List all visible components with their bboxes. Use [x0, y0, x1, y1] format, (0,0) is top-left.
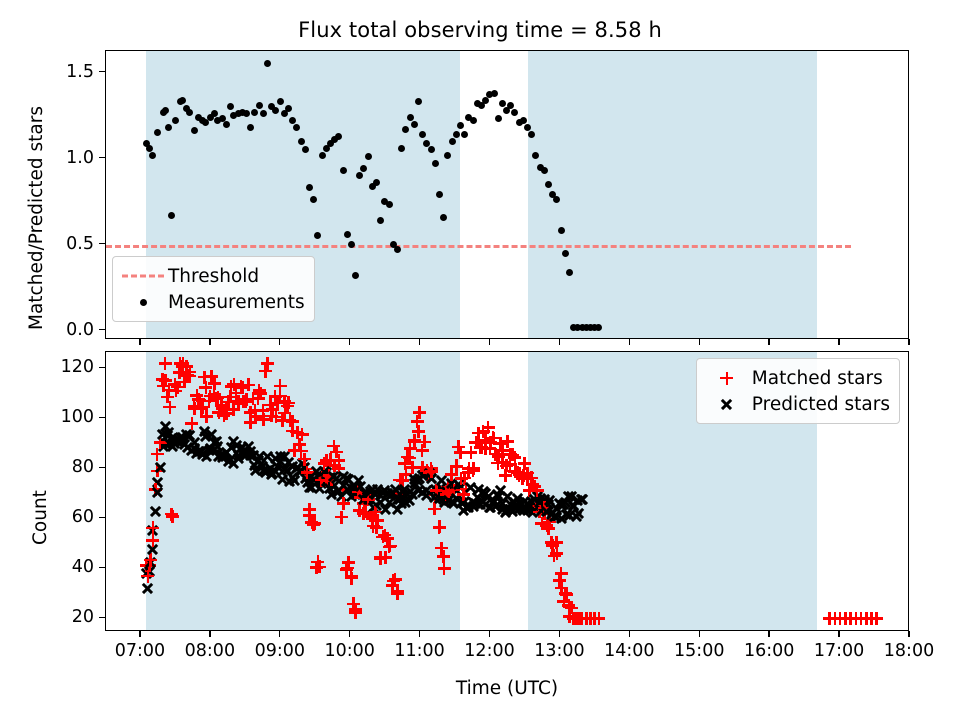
measurement-point — [407, 114, 414, 121]
measurement-point — [168, 212, 175, 219]
xtick-mark — [699, 339, 700, 345]
xtick-mark — [209, 339, 210, 345]
ytick-mark — [99, 243, 105, 244]
measurement-point — [457, 122, 464, 129]
legend-row-matched: Matched stars — [704, 365, 890, 391]
predicted-ex-icon — [704, 393, 750, 415]
xtick-mark — [908, 339, 909, 345]
measurement-point — [348, 241, 355, 248]
measurement-point — [319, 152, 326, 159]
xtick-label: 07:00 — [115, 641, 165, 661]
ytick-mark — [99, 71, 105, 72]
measurement-point — [495, 115, 502, 122]
measurement-point — [256, 102, 263, 109]
ytick-mark — [99, 617, 105, 618]
xtick-mark — [209, 631, 210, 637]
measurement-point — [154, 129, 161, 136]
xtick-mark — [699, 631, 700, 637]
ytick-label: 0.5 — [0, 234, 94, 254]
measurement-point — [335, 133, 342, 140]
xtick-mark — [419, 631, 420, 637]
ytick-mark — [99, 367, 105, 368]
measurement-point — [541, 167, 548, 174]
xtick-mark — [768, 631, 769, 637]
measurement-point — [545, 181, 552, 188]
ytick-mark — [99, 157, 105, 158]
ytick-mark — [99, 517, 105, 518]
measurement-point — [491, 90, 498, 97]
measurement-point — [186, 109, 193, 116]
xtick-mark — [139, 339, 140, 345]
xtick-label: 15:00 — [674, 641, 724, 661]
measurement-point — [179, 97, 186, 104]
bottom-panel-legend: Matched stars Predicted stars — [696, 358, 900, 424]
measurement-point — [453, 131, 460, 138]
measurement-point — [511, 109, 518, 116]
top-panel-axes: Threshold Measurements — [105, 50, 909, 339]
xtick-mark — [489, 631, 490, 637]
matched-plus-icon — [704, 367, 750, 389]
measurement-point — [344, 231, 351, 238]
ytick-label: 0.0 — [0, 320, 94, 340]
ytick-label: 1.5 — [0, 62, 94, 82]
measurement-point — [444, 152, 451, 159]
ytick-mark — [99, 329, 105, 330]
ytick-mark — [99, 567, 105, 568]
ytick-mark — [99, 467, 105, 468]
legend-label-predicted: Predicted stars — [750, 394, 890, 415]
xtick-mark — [419, 339, 420, 345]
measurement-point — [146, 145, 153, 152]
legend-row-measurements: Measurements — [120, 289, 305, 315]
ytick-label: 40 — [0, 557, 94, 577]
xtick-mark — [349, 631, 350, 637]
measurement-point — [558, 227, 565, 234]
measurement-point — [162, 107, 169, 114]
xtick-mark — [279, 339, 280, 345]
xtick-mark — [559, 631, 560, 637]
xtick-mark — [629, 631, 630, 637]
measurement-point — [507, 102, 514, 109]
ytick-label: 100 — [0, 407, 94, 427]
measurement-point — [223, 121, 230, 128]
legend-label-matched: Matched stars — [750, 368, 883, 389]
xtick-label: 12:00 — [464, 641, 514, 661]
legend-row-threshold: Threshold — [120, 263, 305, 289]
xtick-mark — [349, 339, 350, 345]
xtick-label: 09:00 — [255, 641, 305, 661]
top-panel-ylabel: Matched/Predicted stars — [26, 106, 47, 330]
xtick-label: 08:00 — [185, 641, 235, 661]
ytick-mark — [99, 417, 105, 418]
measurement-point — [440, 214, 447, 221]
xtick-mark — [768, 339, 769, 345]
legend-row-predicted: Predicted stars — [704, 391, 890, 417]
measurement-point — [566, 269, 573, 276]
measurement-point — [428, 146, 435, 153]
threshold-line — [106, 245, 851, 248]
xtick-mark — [559, 339, 560, 345]
measurement-point — [595, 324, 602, 331]
measurement-point — [298, 138, 305, 145]
ytick-label: 1.0 — [0, 148, 94, 168]
measurement-point — [352, 272, 359, 279]
bottom-panel-axes: Matched stars Predicted stars — [105, 351, 909, 631]
xtick-label: 16:00 — [744, 641, 794, 661]
xtick-label: 13:00 — [534, 641, 584, 661]
xtick-label: 14:00 — [604, 641, 654, 661]
measurement-point — [470, 117, 477, 124]
ytick-label: 120 — [0, 357, 94, 377]
shaded-block-2 — [528, 51, 817, 338]
xtick-mark — [838, 631, 839, 637]
page-title: Flux total observing time = 8.58 h — [0, 18, 960, 42]
legend-label-threshold: Threshold — [166, 266, 259, 287]
xtick-label: 10:00 — [324, 641, 374, 661]
xtick-mark — [279, 631, 280, 637]
measurement-point — [562, 250, 569, 257]
measurement-point — [365, 153, 372, 160]
threshold-line-icon — [120, 265, 166, 287]
xtick-label: 18:00 — [884, 641, 934, 661]
measurement-point — [251, 109, 258, 116]
measurement-point — [499, 100, 506, 107]
xtick-mark — [908, 631, 909, 637]
xtick-mark — [838, 339, 839, 345]
measurement-point — [461, 131, 468, 138]
xaxis-label: Time (UTC) — [105, 678, 909, 699]
figure-canvas: Flux total observing time = 8.58 h Thres… — [0, 0, 960, 720]
legend-label-measurements: Measurements — [166, 292, 305, 313]
xtick-mark — [629, 339, 630, 345]
measurement-point — [277, 98, 284, 105]
measurement-dot-icon — [120, 291, 166, 313]
measurement-point — [398, 145, 405, 152]
measurement-point — [449, 138, 456, 145]
xtick-mark — [489, 339, 490, 345]
ytick-label: 80 — [0, 457, 94, 477]
top-panel-legend: Threshold Measurements — [112, 256, 315, 322]
measurement-point — [340, 167, 347, 174]
measurement-point — [149, 152, 156, 159]
bottom-panel-ylabel: Count — [30, 490, 51, 545]
xtick-label: 17:00 — [814, 641, 864, 661]
measurement-point — [432, 160, 439, 167]
xtick-mark — [139, 631, 140, 637]
ytick-label: 20 — [0, 607, 94, 627]
xtick-label: 11:00 — [394, 641, 444, 661]
measurement-point — [411, 121, 418, 128]
